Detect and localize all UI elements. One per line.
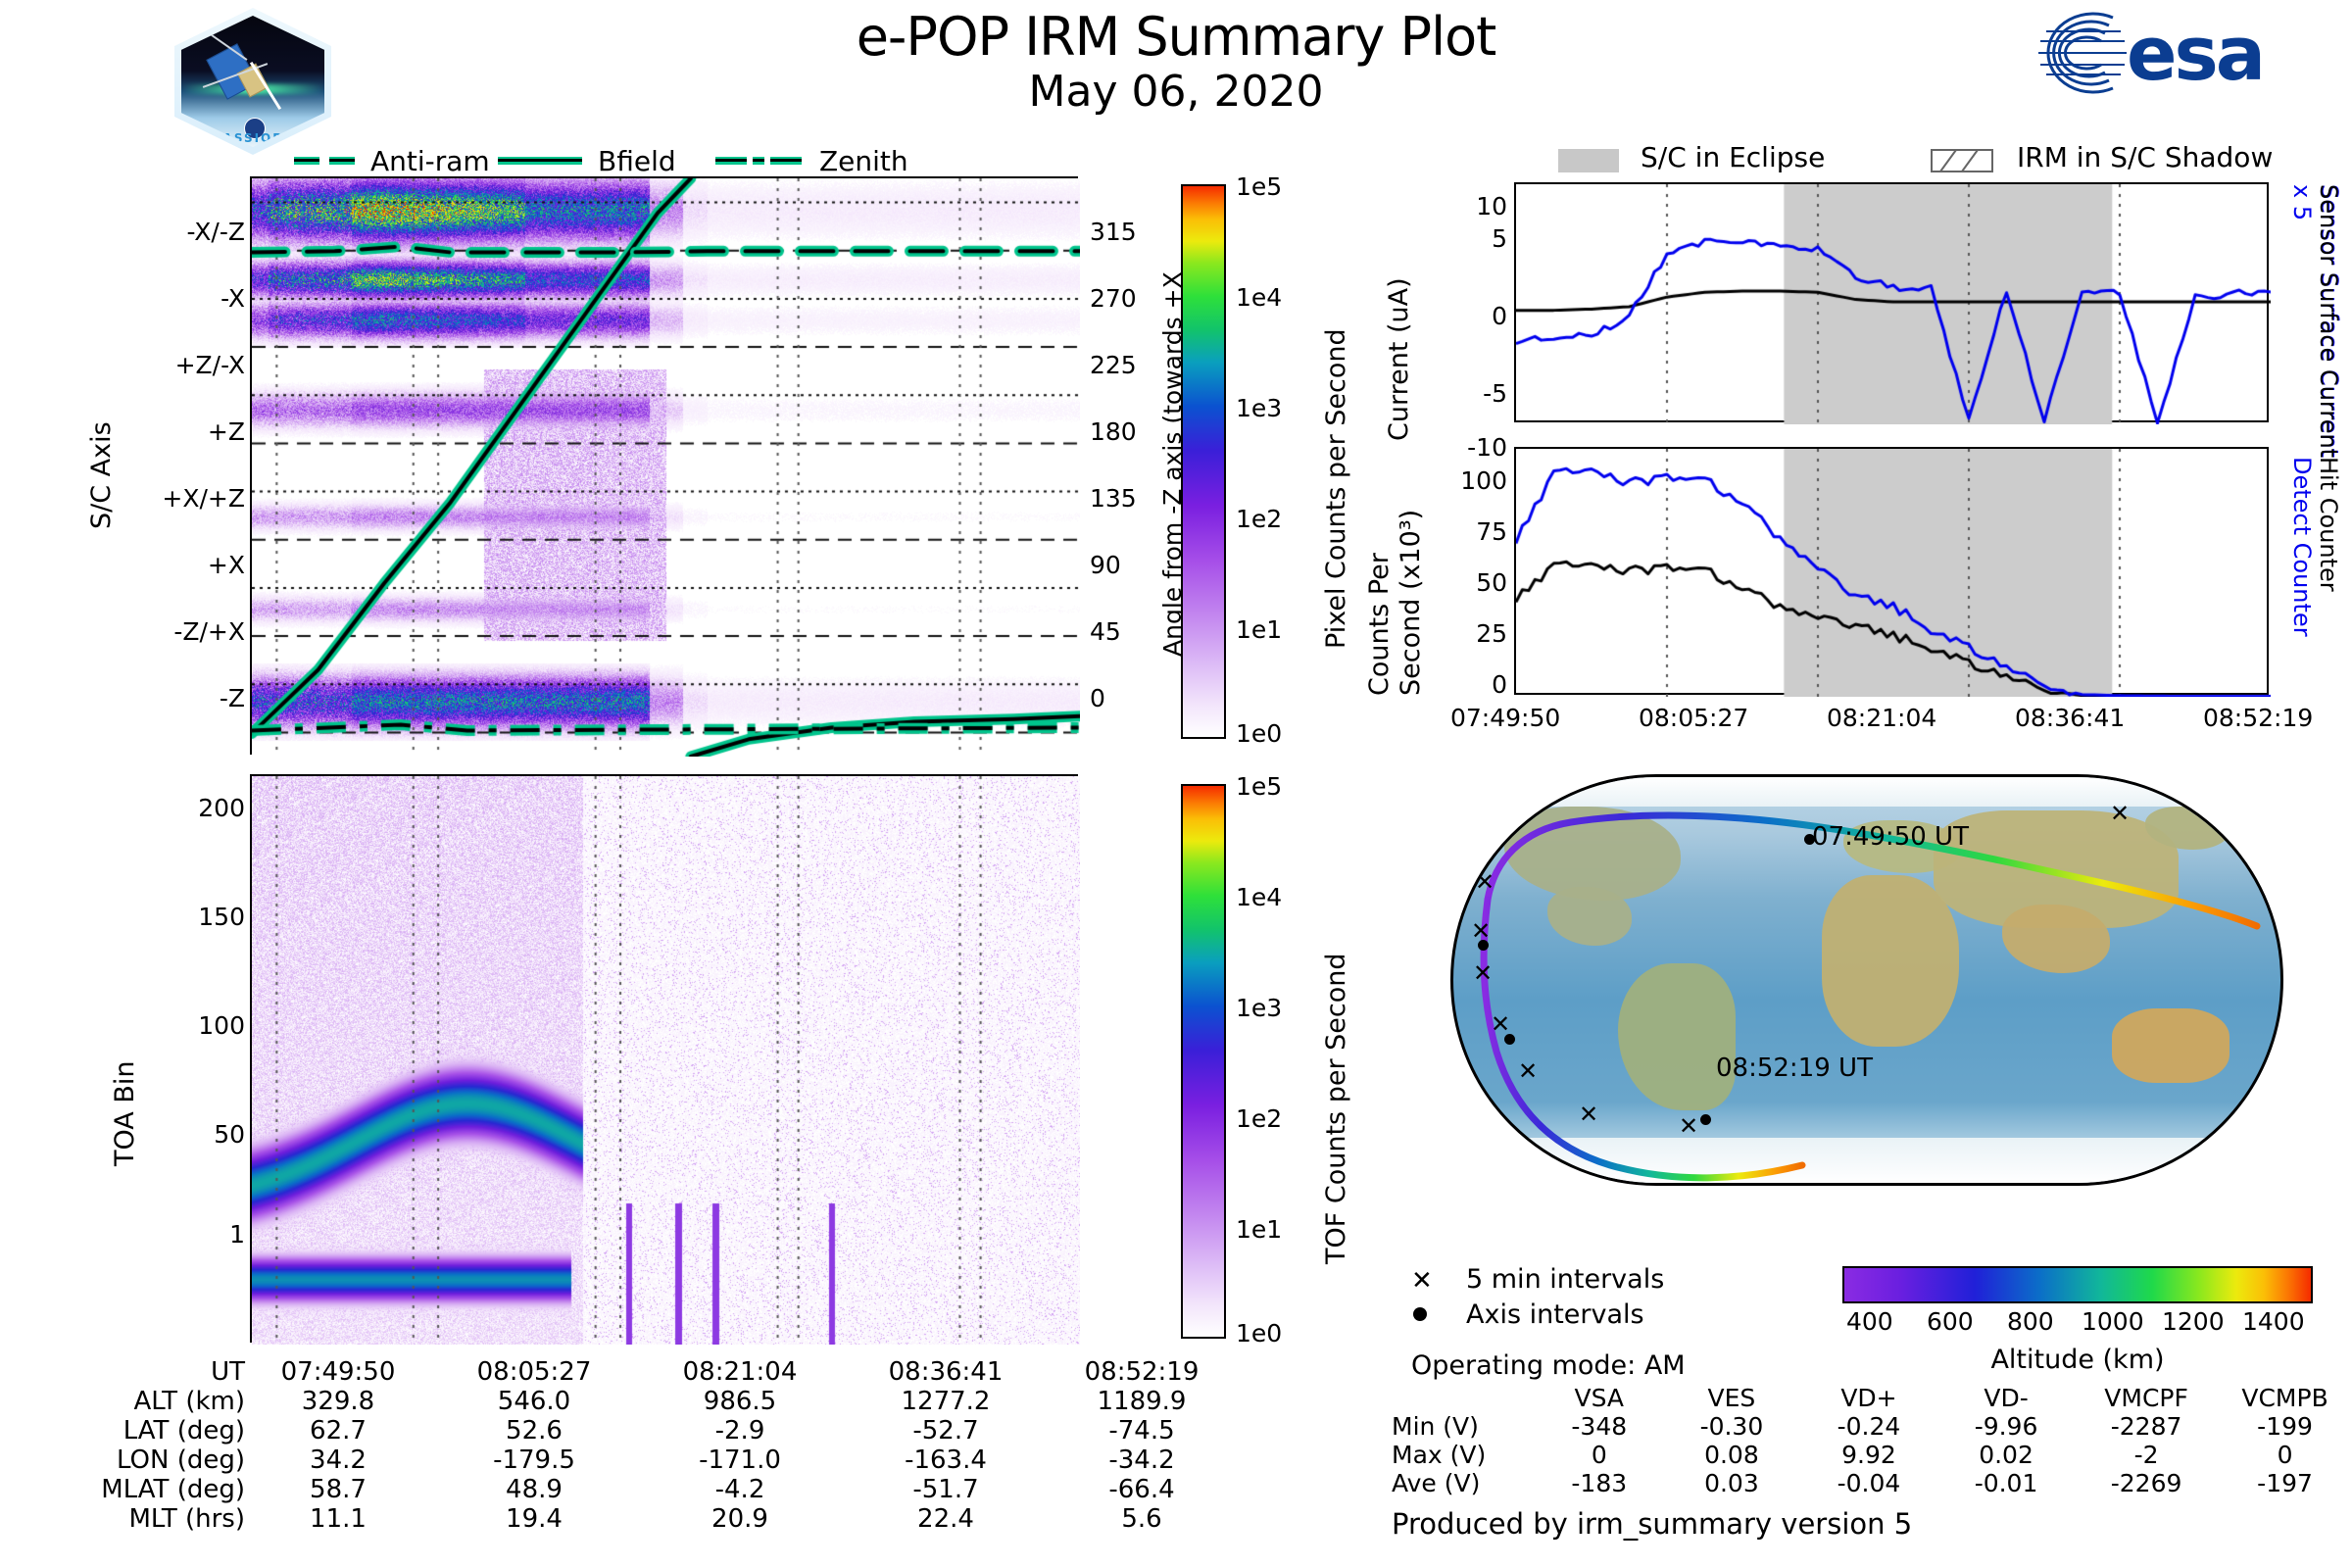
axis-dot-marker	[1700, 1114, 1711, 1125]
legend-swatch-bfield	[498, 157, 582, 165]
interval-x-marker: ✕	[1579, 1102, 1598, 1126]
table-row: LAT (deg) 62.7 52.6 -2.9 -52.7 -74.5	[78, 1416, 1235, 1445]
angle-spectrogram-plot[interactable]	[250, 176, 1078, 755]
toa-spectrogram-plot[interactable]	[250, 774, 1078, 1343]
legend-label-axis-intervals: Axis intervals	[1466, 1299, 1644, 1330]
current-panel-ylabel: Current (uA)	[1384, 225, 1414, 441]
table-row: MLAT (deg) 58.7 48.9 -4.2 -51.7 -66.4	[78, 1475, 1235, 1504]
ground-track-map[interactable]: ✕ ✕ ✕ ✕ ✕ ✕ ✕ ✕ ✕ ✕ 07:49:50 UT 08:52:19…	[1450, 774, 2283, 1186]
ephemeris-table: UT 07:49:50 08:05:27 08:21:04 08:36:41 0…	[78, 1357, 1235, 1534]
counts-right-label-blue: Detect Counter	[2288, 457, 2316, 653]
altitude-colorbar	[1842, 1266, 2313, 1303]
current-plot[interactable]	[1514, 182, 2269, 422]
angle-panel-ylabel: S/C Axis	[86, 294, 117, 529]
tof-counts-colorbar	[1181, 784, 1226, 1339]
table-row: MLT (hrs) 11.1 19.4 20.9 22.4 5.6	[78, 1504, 1235, 1534]
pixel-counts-colorbar-label: Pixel Counts per Second	[1321, 218, 1351, 649]
legend-label-zenith: Zenith	[819, 145, 908, 177]
interval-x-marker: ✕	[1475, 870, 1494, 894]
interval-x-marker: ✕	[1473, 961, 1493, 985]
map-start-label: 07:49:50 UT	[1812, 822, 1969, 852]
map-end-label: 08:52:19 UT	[1716, 1053, 1873, 1083]
page-subtitle: May 06, 2020	[588, 67, 1764, 117]
altitude-colorbar-label: Altitude (km)	[1842, 1345, 2313, 1375]
axis-dot-marker	[1485, 840, 1495, 851]
page-title: e-POP IRM Summary Plot	[588, 6, 1764, 68]
operating-mode-label: Operating mode: AM	[1411, 1350, 1686, 1381]
legend-swatch-eclipse	[1558, 149, 1619, 172]
voltage-table: VSA VES VD+ VD- VMCPF VCMPB Min (V) -348…	[1392, 1384, 2352, 1497]
esa-logo: esa	[2036, 6, 2330, 100]
eclipse-legend: S/C in Eclipse IRM in S/C Shadow	[1558, 143, 2303, 176]
table-row: Min (V) -348 -0.30 -0.24 -9.96 -2287 -19…	[1392, 1412, 2352, 1441]
interval-x-marker: ✕	[2216, 816, 2235, 840]
badge-label: CASSIOPE	[181, 131, 324, 145]
legend-swatch-zenith-c	[770, 157, 802, 165]
toa-panel-ylabel: TOA Bin	[110, 990, 140, 1166]
table-row: ALT (km) 329.8 546.0 986.5 1277.2 1189.9	[78, 1387, 1235, 1416]
current-right-label-black: Sensor Surface Current	[2315, 184, 2342, 459]
angle-panel-legend: Anti-ram Bfield Zenith	[294, 145, 1039, 178]
legend-swatch-anti-ram-b	[329, 157, 355, 165]
interval-x-marker: ✕	[2278, 846, 2283, 869]
world-map-globe: ✕ ✕ ✕ ✕ ✕ ✕ ✕ ✕ ✕ ✕ 07:49:50 UT 08:52:19…	[1450, 774, 2283, 1186]
tof-counts-colorbar-label: TOF Counts per Second	[1321, 813, 1351, 1264]
interval-x-marker: ✕	[1491, 1012, 1510, 1036]
esa-arc-icon	[2036, 12, 2131, 94]
legend-swatch-zenith-a	[715, 157, 747, 165]
pixel-counts-colorbar	[1181, 184, 1226, 739]
legend-label-anti-ram: Anti-ram	[370, 145, 490, 177]
table-row: LON (deg) 34.2 -179.5 -171.0 -163.4 -34.…	[78, 1445, 1235, 1475]
legend-label-eclipse: S/C in Eclipse	[1641, 141, 1825, 173]
interval-x-marker: ✕	[2110, 802, 2130, 825]
table-row: Ave (V) -183 0.03 -0.04 -0.01 -2269 -197	[1392, 1469, 2352, 1497]
legend-label-bfield: Bfield	[598, 145, 676, 177]
table-row: Max (V) 0 0.08 9.92 0.02 -2 0	[1392, 1441, 2352, 1469]
legend-x-marker-icon: ✕	[1411, 1266, 1433, 1296]
counts-right-label-black: Hit Counter	[2315, 457, 2342, 653]
interval-x-marker: ✕	[1679, 1114, 1698, 1138]
esa-wordmark: esa	[2127, 10, 2263, 97]
axis-dot-marker	[1478, 940, 1489, 951]
legend-swatch-shadow-hatched-icon	[1931, 149, 1993, 172]
table-row: UT 07:49:50 08:05:27 08:21:04 08:36:41 0…	[78, 1357, 1235, 1387]
interval-x-marker: ✕	[1518, 1059, 1538, 1083]
legend-swatch-zenith-b	[753, 157, 764, 165]
legend-label-shadow: IRM in S/C Shadow	[2017, 141, 2273, 173]
legend-dot-marker-icon	[1413, 1307, 1427, 1321]
counts-plot[interactable]	[1514, 447, 2269, 695]
axis-dot-marker	[1504, 1034, 1515, 1045]
footer-produced-by: Produced by irm_summary version 5	[1392, 1507, 1912, 1541]
legend-swatch-anti-ram-a	[294, 157, 319, 165]
table-header-row: VSA VES VD+ VD- VMCPF VCMPB	[1392, 1384, 2352, 1412]
cassiope-mission-badge: CASSIOPE	[174, 8, 331, 155]
legend-label-5min: 5 min intervals	[1466, 1264, 1664, 1295]
